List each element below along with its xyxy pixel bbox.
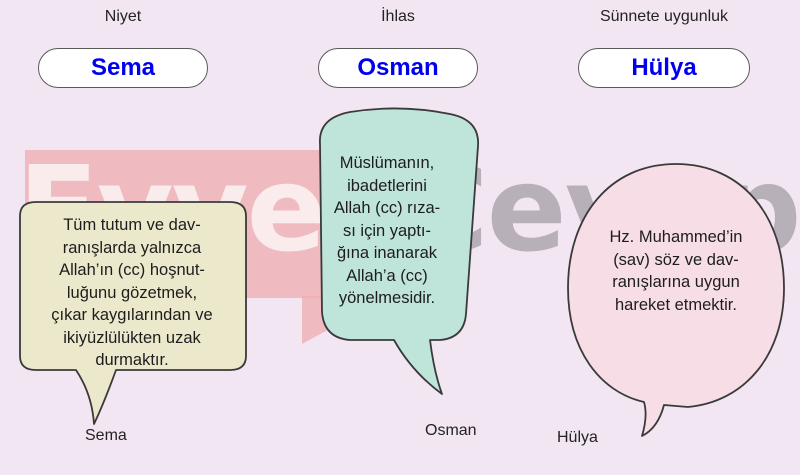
speech-bubble-osman-text: Müslümanın, ibadetlerini Allah (cc) rıza…: [312, 152, 462, 310]
footer-label-sema: Sema: [85, 427, 127, 445]
speech-bubble-hulya-text: Hz. Muhammed’in (sav) söz ve dav- ranışl…: [578, 226, 774, 316]
name-pill-hulya[interactable]: Hülya: [578, 48, 750, 88]
diagram-canvas: Evvel Cevap Niyet Sema Tüm tutum ve dav-…: [0, 0, 800, 475]
column-header-sunnete-uygunluk: Sünnete uygunluk: [578, 8, 750, 26]
name-pill-sema[interactable]: Sema: [38, 48, 208, 88]
footer-label-hulya: Hülya: [557, 429, 598, 447]
column-header-niyet: Niyet: [38, 8, 208, 26]
column-header-ihlas: İhlas: [318, 8, 478, 26]
name-pill-osman[interactable]: Osman: [318, 48, 478, 88]
footer-label-osman: Osman: [425, 422, 477, 440]
speech-bubble-sema-text: Tüm tutum ve dav- ranışlarda yalnızca Al…: [24, 214, 240, 372]
